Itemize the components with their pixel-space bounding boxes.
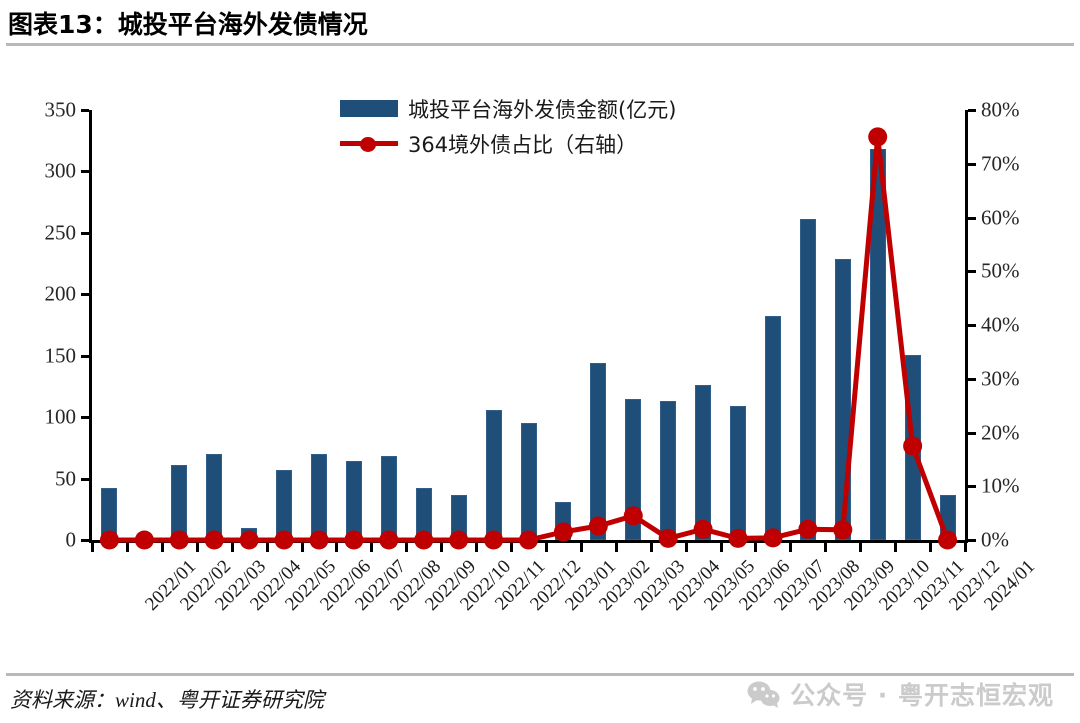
page-title: 图表13：城投平台海外发债情况 xyxy=(8,5,368,41)
x-tick xyxy=(929,543,932,552)
line-marker-2022-01 xyxy=(100,531,119,550)
y-tick-right xyxy=(968,109,976,112)
line-marker-2022-06 xyxy=(275,531,294,550)
x-tick xyxy=(91,543,94,552)
line-marker-2023-02 xyxy=(554,522,573,541)
line-marker-2022-11 xyxy=(449,531,468,550)
x-tick xyxy=(196,543,199,552)
y-axis-right-label: 30% xyxy=(981,366,1051,391)
y-tick-right xyxy=(968,270,976,273)
y-tick-right xyxy=(968,539,976,542)
x-tick xyxy=(301,543,304,552)
title-divider xyxy=(6,43,1074,46)
y-tick-left xyxy=(81,170,89,173)
x-tick xyxy=(475,543,478,552)
x-tick xyxy=(894,543,897,552)
watermark-text: 公众号 · 粤开志恒宏观 xyxy=(790,676,1054,712)
line-path xyxy=(109,137,947,540)
x-tick xyxy=(615,543,618,552)
line-marker-2022-07 xyxy=(309,531,328,550)
x-tick xyxy=(789,543,792,552)
line-marker-2023-12 xyxy=(903,436,922,455)
y-axis-left-label: 250 xyxy=(18,220,76,245)
x-tick xyxy=(720,543,723,552)
y-axis-left-label: 150 xyxy=(18,343,76,368)
x-tick xyxy=(440,543,443,552)
y-axis-right-label: 60% xyxy=(981,205,1051,230)
y-axis-left-label: 200 xyxy=(18,282,76,307)
line-marker-2023-09 xyxy=(798,520,817,539)
watermark: 公众号 · 粤开志恒宏观 xyxy=(747,676,1054,712)
percentage-line-series xyxy=(92,110,965,540)
line-marker-2023-05 xyxy=(659,529,678,548)
y-tick-right xyxy=(968,324,976,327)
x-tick xyxy=(859,543,862,552)
line-marker-2022-05 xyxy=(240,531,259,550)
line-marker-2023-04 xyxy=(624,506,643,525)
y-axis-left-label: 50 xyxy=(18,466,76,491)
y-axis-right-label: 40% xyxy=(981,313,1051,338)
x-tick xyxy=(824,543,827,552)
line-marker-2023-11 xyxy=(868,127,887,146)
y-axis-right-label: 10% xyxy=(981,474,1051,499)
line-marker-2022-08 xyxy=(344,531,363,550)
y-axis-right-label: 80% xyxy=(981,98,1051,123)
x-tick xyxy=(370,543,373,552)
x-tick xyxy=(685,543,688,552)
line-marker-2022-10 xyxy=(414,531,433,550)
y-axis-right-label: 20% xyxy=(981,420,1051,445)
y-axis-left-label: 300 xyxy=(18,159,76,184)
y-axis-left-label: 100 xyxy=(18,405,76,430)
y-tick-left xyxy=(81,539,89,542)
y-axis-left-label: 0 xyxy=(18,528,76,553)
chart-canvas: 城投平台海外发债金额(亿元) 364境外债占比（右轴） 050100150200… xyxy=(0,50,1080,650)
y-tick-left xyxy=(81,109,89,112)
plot-area: 0501001502002503003500%10%20%30%40%50%60… xyxy=(92,110,965,540)
x-tick xyxy=(510,543,513,552)
x-tick xyxy=(231,543,234,552)
line-marker-2023-03 xyxy=(589,517,608,536)
y-tick-right xyxy=(968,485,976,488)
x-tick xyxy=(754,543,757,552)
x-tick xyxy=(161,543,164,552)
source-note: 资料来源：wind、粤开证券研究院 xyxy=(10,684,324,714)
line-marker-2023-10 xyxy=(833,520,852,539)
y-tick-right xyxy=(968,378,976,381)
line-marker-2023-01 xyxy=(519,531,538,550)
x-tick xyxy=(405,543,408,552)
y-axis-right-label: 50% xyxy=(981,259,1051,284)
wechat-icon xyxy=(747,680,781,708)
x-tick xyxy=(650,543,653,552)
y-tick-left xyxy=(81,293,89,296)
y-axis-right-label: 0% xyxy=(981,528,1051,553)
line-marker-2022-09 xyxy=(379,531,398,550)
line-marker-2022-03 xyxy=(170,531,189,550)
y-tick-left xyxy=(81,416,89,419)
y-axis-left-label: 350 xyxy=(18,98,76,123)
y-tick-right xyxy=(968,217,976,220)
x-tick xyxy=(545,543,548,552)
line-marker-2023-07 xyxy=(729,529,748,548)
y-tick-right xyxy=(968,163,976,166)
line-marker-2023-08 xyxy=(763,528,782,547)
y-tick-right xyxy=(968,432,976,435)
x-tick xyxy=(964,543,967,552)
y-tick-left xyxy=(81,478,89,481)
chart-title-bar: 图表13：城投平台海外发债情况 xyxy=(0,0,1080,46)
line-marker-2022-12 xyxy=(484,531,503,550)
y-tick-left xyxy=(81,232,89,235)
line-marker-2023-06 xyxy=(694,520,713,539)
x-tick xyxy=(126,543,129,552)
x-tick xyxy=(335,543,338,552)
y-tick-left xyxy=(81,355,89,358)
x-tick xyxy=(580,543,583,552)
x-tick xyxy=(266,543,269,552)
y-axis-right-label: 70% xyxy=(981,151,1051,176)
line-marker-2022-04 xyxy=(205,531,224,550)
line-marker-2024-01 xyxy=(938,531,957,550)
line-marker-2022-02 xyxy=(135,531,154,550)
